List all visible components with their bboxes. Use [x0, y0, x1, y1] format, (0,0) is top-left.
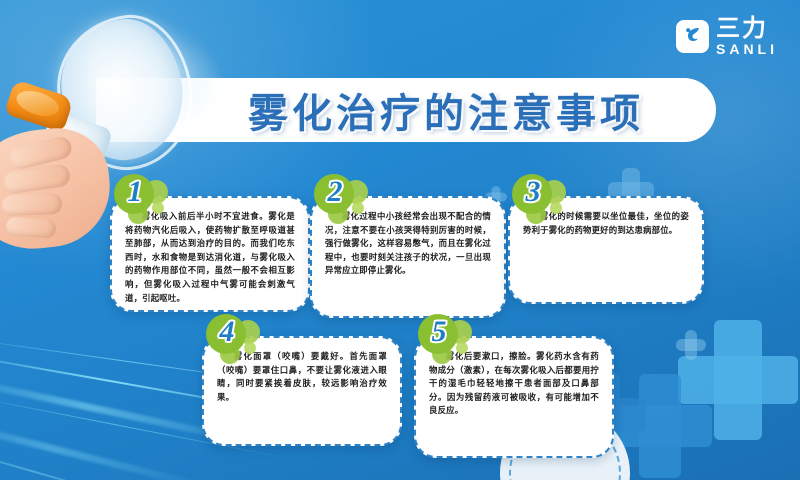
poster-root: 三力 SANLI 雾化治疗的注意事项 1 雾化吸入前后半小时不宜进食。雾化是将药… [0, 0, 800, 480]
tip-card-text: 雾化的时候需要以坐位最佳，坐位的姿势利于雾化的药物更好的到达患病部位。 [510, 198, 702, 248]
tip-card-text: 雾化面罩（咬嘴）要戴好。首先面罩（咬嘴）要罩住口鼻，不要让雾化液进入眼睛，同时要… [204, 338, 400, 415]
sanli-leaf-icon [676, 20, 709, 53]
medical-cross-icon [676, 330, 706, 360]
tip-card-text: 雾化过程中小孩经常会出现不配合的情况，注意不要在小孩哭得特别厉害的时候，强行做雾… [312, 198, 504, 289]
title-banner: 雾化治疗的注意事项 [96, 78, 716, 142]
brand-name-cn: 三力 [716, 16, 778, 40]
tip-card[interactable]: 2 雾化过程中小孩经常会出现不配合的情况，注意不要在小孩哭得特别厉害的时候，强行… [310, 196, 506, 318]
page-title: 雾化治疗的注意事项 [168, 81, 644, 139]
brand-name-en: SANLI [716, 42, 778, 56]
tip-card[interactable]: 1 雾化吸入前后半小时不宜进食。雾化是将药物汽化后吸入，使药物扩散至呼吸道甚至肺… [110, 196, 310, 312]
brand-wordmark: 三力 SANLI [716, 16, 778, 56]
tip-card-text: 雾化后要漱口，擦脸。雾化药水含有药物成分（激素），在每次雾化吸入后都要用拧干的湿… [416, 338, 612, 429]
tip-card[interactable]: 5 雾化后要漱口，擦脸。雾化药水含有药物成分（激素），在每次雾化吸入后都要用拧干… [414, 336, 614, 458]
nebulizer-cap [4, 79, 74, 132]
finger [8, 135, 73, 171]
hand [0, 123, 116, 255]
finger [3, 164, 71, 195]
tip-card-text: 雾化吸入前后半小时不宜进食。雾化是将药物汽化后吸入，使药物扩散至呼吸道甚至肺部，… [112, 198, 308, 316]
tip-card[interactable]: 4 雾化面罩（咬嘴）要戴好。首先面罩（咬嘴）要罩住口鼻，不要让雾化液进入眼睛，同… [202, 336, 402, 446]
medical-cross-icon [678, 320, 798, 440]
finger [5, 216, 56, 238]
finger [2, 193, 63, 216]
brand-logo: 三力 SANLI [676, 16, 778, 56]
tip-card[interactable]: 3 雾化的时候需要以坐位最佳，坐位的姿势利于雾化的药物更好的到达患病部位。 [508, 196, 704, 304]
